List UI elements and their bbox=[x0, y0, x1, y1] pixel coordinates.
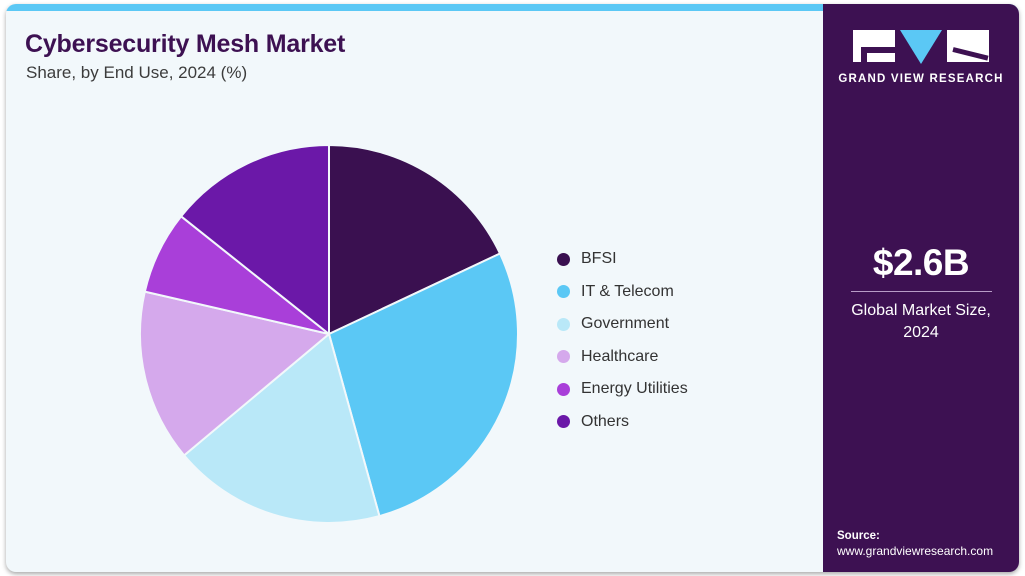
pie-chart bbox=[139, 144, 519, 524]
legend-swatch-icon bbox=[557, 415, 570, 428]
legend-swatch-icon bbox=[557, 383, 570, 396]
logo-r-notch bbox=[952, 47, 988, 61]
legend-item[interactable]: Others bbox=[557, 406, 807, 439]
legend-item[interactable]: BFSI bbox=[557, 243, 807, 276]
side-panel: GRAND VIEW RESEARCH $2.6B Global Market … bbox=[823, 4, 1019, 572]
stat-value: $2.6B bbox=[823, 242, 1019, 284]
legend-item-label: Government bbox=[581, 315, 669, 333]
brand-logo: GRAND VIEW RESEARCH bbox=[823, 30, 1019, 85]
logo-g-notch-vertical bbox=[861, 53, 867, 62]
legend-swatch-icon bbox=[557, 285, 570, 298]
logo-r-icon bbox=[947, 30, 989, 62]
page-subtitle: Share, by End Use, 2024 (%) bbox=[26, 63, 247, 83]
source-block: Source: www.grandviewresearch.com bbox=[837, 530, 1019, 558]
logo-wordmark: GRAND VIEW RESEARCH bbox=[823, 73, 1019, 85]
chart-panel: Cybersecurity Mesh Market Share, by End … bbox=[6, 11, 823, 572]
legend-swatch-icon bbox=[557, 318, 570, 331]
legend-item[interactable]: Government bbox=[557, 308, 807, 341]
legend-swatch-icon bbox=[557, 253, 570, 266]
chart-legend: BFSIIT & TelecomGovernmentHealthcareEner… bbox=[557, 243, 807, 438]
legend-item[interactable]: IT & Telecom bbox=[557, 276, 807, 309]
logo-v-icon bbox=[900, 30, 942, 64]
stat-block: $2.6B Global Market Size, 2024 bbox=[823, 242, 1019, 343]
pie-slice-group bbox=[140, 145, 518, 523]
source-url[interactable]: www.grandviewresearch.com bbox=[837, 544, 1019, 558]
logo-g-icon bbox=[853, 30, 895, 62]
legend-item-label: Healthcare bbox=[581, 348, 658, 366]
legend-item-label: Others bbox=[581, 413, 629, 431]
logo-marks bbox=[823, 30, 1019, 64]
page-title: Cybersecurity Mesh Market bbox=[25, 30, 345, 59]
pie-chart-svg bbox=[139, 144, 519, 524]
legend-item-label: IT & Telecom bbox=[581, 283, 674, 301]
legend-item[interactable]: Energy Utilities bbox=[557, 373, 807, 406]
legend-item-label: Energy Utilities bbox=[581, 380, 688, 398]
stat-divider bbox=[851, 291, 992, 292]
legend-swatch-icon bbox=[557, 350, 570, 363]
stat-caption: Global Market Size, 2024 bbox=[823, 300, 1019, 343]
infographic-card: Cybersecurity Mesh Market Share, by End … bbox=[6, 4, 1019, 572]
legend-item[interactable]: Healthcare bbox=[557, 341, 807, 374]
legend-item-label: BFSI bbox=[581, 250, 617, 268]
source-label: Source: bbox=[837, 530, 1019, 542]
